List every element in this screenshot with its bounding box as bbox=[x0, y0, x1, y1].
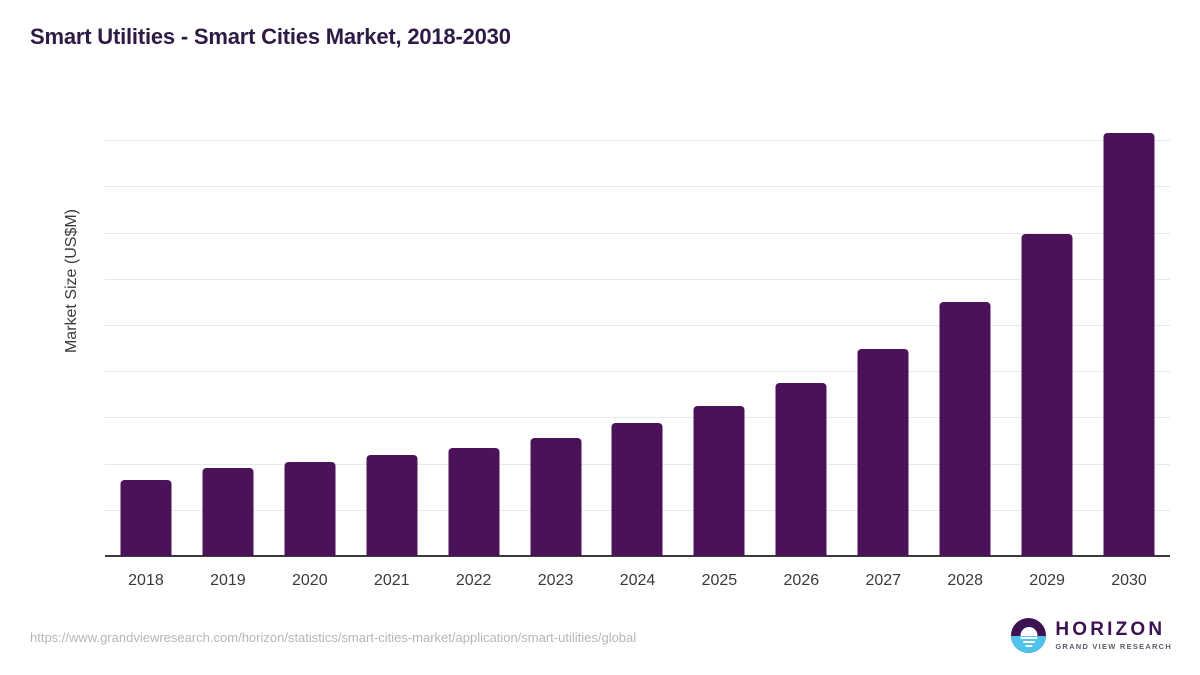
bar-group: 2020 bbox=[269, 117, 351, 556]
bar[interactable] bbox=[1104, 133, 1155, 556]
x-axis-tick-label: 2018 bbox=[128, 572, 164, 590]
x-axis-tick-label: 2027 bbox=[865, 572, 901, 590]
x-axis-tick-label: 2023 bbox=[538, 572, 574, 590]
y-axis-title: Market Size (US$M) bbox=[63, 151, 81, 411]
bar[interactable] bbox=[1022, 234, 1073, 556]
bar[interactable] bbox=[530, 438, 581, 556]
x-axis-tick-label: 2029 bbox=[1029, 572, 1065, 590]
source-url[interactable]: https://www.grandviewresearch.com/horizo… bbox=[30, 630, 636, 645]
bar[interactable] bbox=[694, 406, 745, 556]
bar-group: 2025 bbox=[678, 117, 760, 556]
logo-ray-3 bbox=[1025, 645, 1032, 647]
bar-group: 2019 bbox=[187, 117, 269, 556]
logo-text: HORIZON GRAND VIEW RESEARCH bbox=[1055, 620, 1172, 651]
x-axis-tick-label: 2022 bbox=[456, 572, 492, 590]
bar[interactable] bbox=[448, 448, 499, 556]
bar[interactable] bbox=[202, 468, 253, 556]
logo-wordmark: HORIZON bbox=[1055, 620, 1172, 639]
logo-sun bbox=[1020, 627, 1037, 636]
x-axis-tick-label: 2021 bbox=[374, 572, 410, 590]
bar[interactable] bbox=[940, 302, 991, 556]
x-axis-tick-label: 2020 bbox=[292, 572, 328, 590]
chart-container: Market Size (US$M) 0102030405060708090 2… bbox=[0, 0, 1200, 675]
bar[interactable] bbox=[776, 383, 827, 556]
bar[interactable] bbox=[120, 480, 171, 556]
plot-area: 0102030405060708090 20182019202020212022… bbox=[105, 117, 1170, 556]
bar-group: 2024 bbox=[597, 117, 679, 556]
bar-group: 2022 bbox=[433, 117, 515, 556]
x-axis-tick-label: 2019 bbox=[210, 572, 246, 590]
bar-group: 2018 bbox=[105, 117, 187, 556]
bar-group: 2026 bbox=[760, 117, 842, 556]
bar-group: 2027 bbox=[842, 117, 924, 556]
x-axis-tick-label: 2025 bbox=[702, 572, 738, 590]
bar-group: 2030 bbox=[1088, 117, 1170, 556]
bar[interactable] bbox=[858, 349, 909, 556]
bar-group: 2028 bbox=[924, 117, 1006, 556]
bar-group: 2021 bbox=[351, 117, 433, 556]
horizon-logo[interactable]: HORIZON GRAND VIEW RESEARCH bbox=[1011, 618, 1172, 653]
logo-ray-1 bbox=[1020, 637, 1037, 639]
bar-group: 2023 bbox=[515, 117, 597, 556]
logo-ray-2 bbox=[1023, 641, 1035, 643]
x-axis-tick-label: 2028 bbox=[947, 572, 983, 590]
bar[interactable] bbox=[366, 455, 417, 556]
x-axis-tick-label: 2026 bbox=[784, 572, 820, 590]
bar-group: 2029 bbox=[1006, 117, 1088, 556]
chart-page: Smart Utilities - Smart Cities Market, 2… bbox=[0, 0, 1200, 675]
bar[interactable] bbox=[612, 423, 663, 556]
bar[interactable] bbox=[284, 462, 335, 556]
horizon-sunrise-icon bbox=[1011, 618, 1046, 653]
x-axis-tick-label: 2030 bbox=[1111, 572, 1147, 590]
logo-tagline: GRAND VIEW RESEARCH bbox=[1055, 643, 1172, 651]
bar-series: 2018201920202021202220232024202520262027… bbox=[105, 117, 1170, 556]
x-axis-tick-label: 2024 bbox=[620, 572, 656, 590]
